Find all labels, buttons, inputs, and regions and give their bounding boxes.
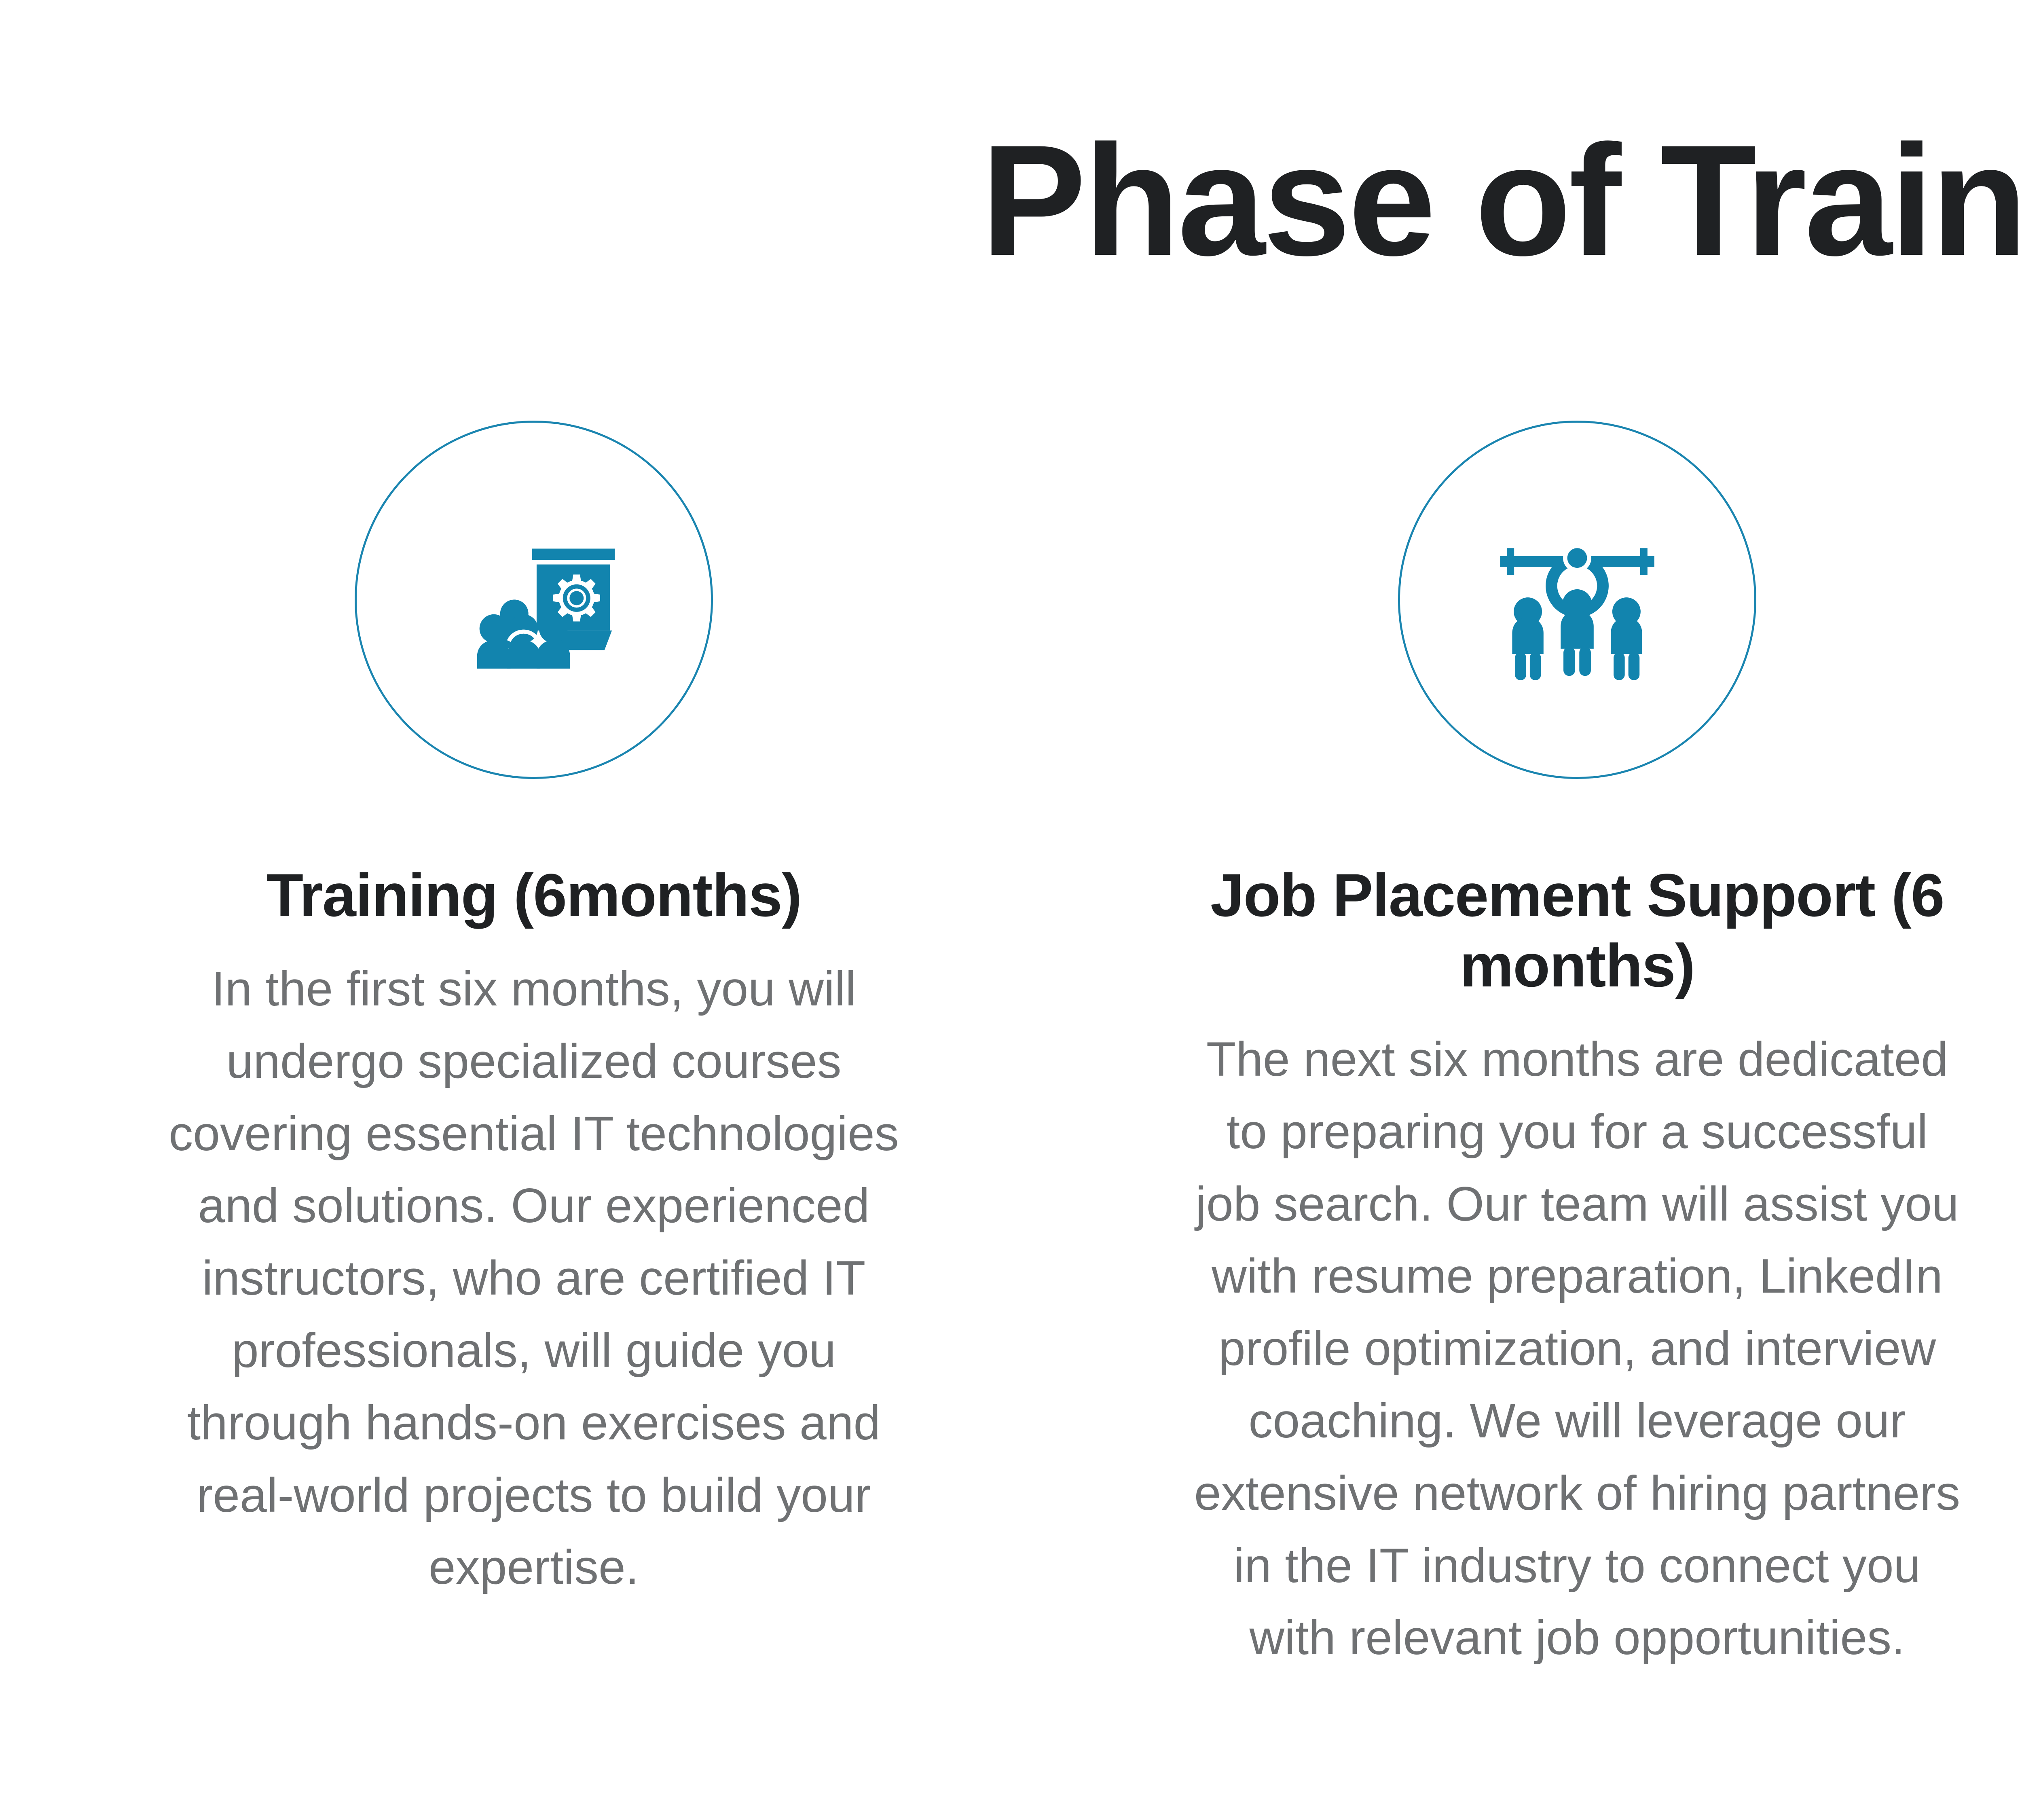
training-presentation-icon	[441, 507, 627, 693]
phase-card-training: Training (6months) In the first six mont…	[24, 421, 1043, 1604]
icon-circle-job-placement	[1398, 421, 1756, 779]
crane-hook-recruitment-icon	[1470, 493, 1684, 707]
card-heading: Job Placement Support (6 months)	[1148, 860, 2006, 1001]
card-heading: Training (6months)	[266, 860, 802, 930]
phase-card-job-placement: Job Placement Support (6 months) The nex…	[1068, 421, 2022, 1674]
slide-root: Phase of Training	[0, 0, 2022, 1820]
icon-circle-training	[355, 421, 713, 779]
card-body: The next six months are dedicated to pre…	[1193, 1023, 1961, 1674]
phase-columns: Training (6months) In the first six mont…	[0, 421, 2022, 1674]
card-body: In the first six months, you will underg…	[160, 953, 908, 1604]
page-title: Phase of Training	[0, 121, 2022, 279]
